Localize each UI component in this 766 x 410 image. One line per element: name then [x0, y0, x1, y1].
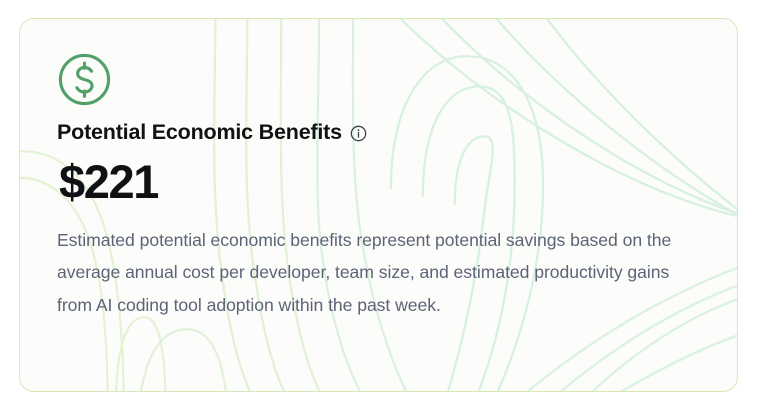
screen: Potential Economic Benefits $221 Estimat… — [0, 0, 766, 410]
metric-value: $221 — [59, 158, 717, 205]
metric-description: Estimated potential economic benefits re… — [57, 224, 707, 322]
card-content: Potential Economic Benefits $221 Estimat… — [57, 52, 717, 321]
card-title: Potential Economic Benefits — [57, 121, 342, 145]
card-title-row: Potential Economic Benefits — [57, 121, 717, 145]
potential-economic-benefits-card: Potential Economic Benefits $221 Estimat… — [19, 18, 738, 392]
info-icon[interactable] — [350, 125, 367, 142]
dollar-circle-icon — [57, 52, 112, 107]
